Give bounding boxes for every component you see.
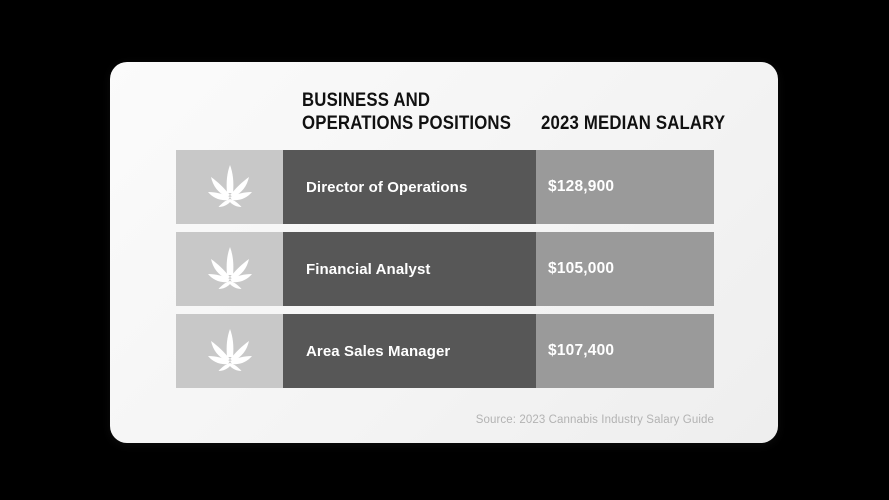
row-position-cell: Director of Operations [283,150,536,224]
cannabis-leaf-icon [205,162,255,212]
position-label: Director of Operations [283,179,467,196]
salary-table-body: Director of Operations $128,900 [176,150,714,396]
table-row[interactable]: Financial Analyst $105,000 [176,232,714,306]
table-header: BUSINESS AND OPERATIONS POSITIONS 2023 M… [110,62,778,150]
salary-table-card: BUSINESS AND OPERATIONS POSITIONS 2023 M… [110,62,778,443]
cannabis-leaf-icon [205,244,255,294]
table-row[interactable]: Director of Operations $128,900 [176,150,714,224]
source-citation: Source: 2023 Cannabis Industry Salary Gu… [476,414,714,426]
row-position-cell: Financial Analyst [283,232,536,306]
table-row[interactable]: Area Sales Manager $107,400 [176,314,714,388]
row-salary-cell: $128,900 [536,150,714,224]
screenshot-canvas: BUSINESS AND OPERATIONS POSITIONS 2023 M… [0,0,889,500]
salary-value: $107,400 [536,342,614,360]
position-label: Financial Analyst [283,261,431,278]
row-icon-cell [176,150,283,224]
row-salary-cell: $107,400 [536,314,714,388]
row-position-cell: Area Sales Manager [283,314,536,388]
cannabis-leaf-icon [205,326,255,376]
row-icon-cell [176,314,283,388]
salary-value: $105,000 [536,260,614,278]
row-salary-cell: $105,000 [536,232,714,306]
column-header-salary: 2023 MEDIAN SALARY [541,112,725,135]
row-icon-cell [176,232,283,306]
salary-value: $128,900 [536,178,614,196]
position-label: Area Sales Manager [283,343,450,360]
column-header-positions: BUSINESS AND OPERATIONS POSITIONS [302,89,511,135]
